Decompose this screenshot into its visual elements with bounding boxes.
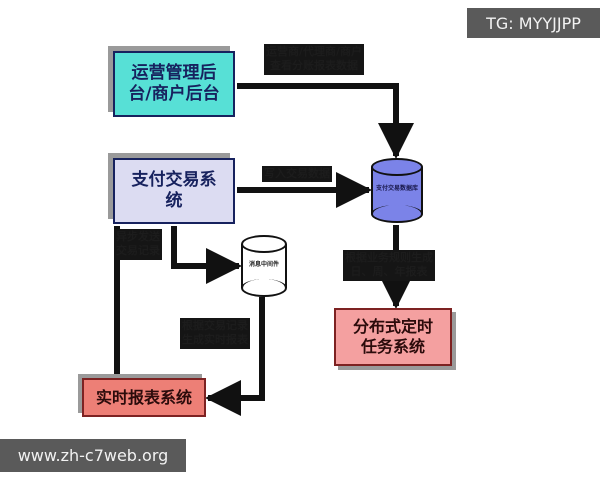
edge-label-mq-to-report: 根据交易记录 生成实时报表 [180,318,250,349]
node-admin-backend[interactable]: 运营管理后 台/商户后台 [113,51,235,117]
cylinder-top [371,158,423,176]
node-admin-label-line1: 运营管理后 [132,63,217,83]
node-sched-label-line1: 分布式定时 [353,317,433,336]
edge-pay-to-mq [174,226,239,266]
edge-label-line1: 异步发送 [116,230,160,244]
edge-label-line1: 根据业务规则生成 [345,251,433,265]
cylinder-bottom [241,279,287,297]
edge-label-line1: 根据交易记录 [182,319,248,333]
watermark-telegram: TG: MYYJJPP [467,8,600,38]
node-message-queue[interactable]: 消息中间件 [241,235,287,297]
node-db-label: 支付交易数据库 [371,183,423,192]
edge-label-pay-to-db: 写入交易数据 [262,166,332,182]
edge-label-line2: 查看分账报表数据 [266,59,362,73]
edge-label-db-to-sched: 根据业务规则生成 日、周、年报表 [343,250,435,281]
edge-label-line2: 日、周、年报表 [345,265,433,279]
edge-label-line2: 生成实时报表 [182,333,248,347]
cylinder-bottom [371,205,423,223]
edge-label-line1: 写入交易数据 [264,167,330,181]
node-admin-label-line2: 台/商户后台 [128,84,219,104]
node-report-label: 实时报表系统 [96,388,192,408]
edge-label-line1: 运营商/代理商/商户 [266,45,362,59]
node-pay-label-line2: 统 [166,191,183,211]
edge-label-admin-to-db: 运营商/代理商/商户 查看分账报表数据 [264,44,364,75]
node-payment-database[interactable]: 支付交易数据库 [371,158,423,223]
node-payment-system[interactable]: 支付交易系 统 [113,158,235,224]
edge-label-pay-to-mq: 异步发送 交易记录 [114,229,162,260]
node-mq-label: 消息中间件 [241,259,287,268]
node-sched-label-line2: 任务系统 [361,337,425,356]
edge-label-line2: 交易记录 [116,244,160,258]
cylinder-top [241,235,287,253]
node-realtime-report-system[interactable]: 实时报表系统 [82,378,206,417]
edge-admin-to-db [237,86,396,156]
node-pay-label-line1: 支付交易系 [132,170,217,190]
node-scheduled-task-system[interactable]: 分布式定时 任务系统 [334,308,452,366]
watermark-website: www.zh-c7web.org [0,439,186,472]
